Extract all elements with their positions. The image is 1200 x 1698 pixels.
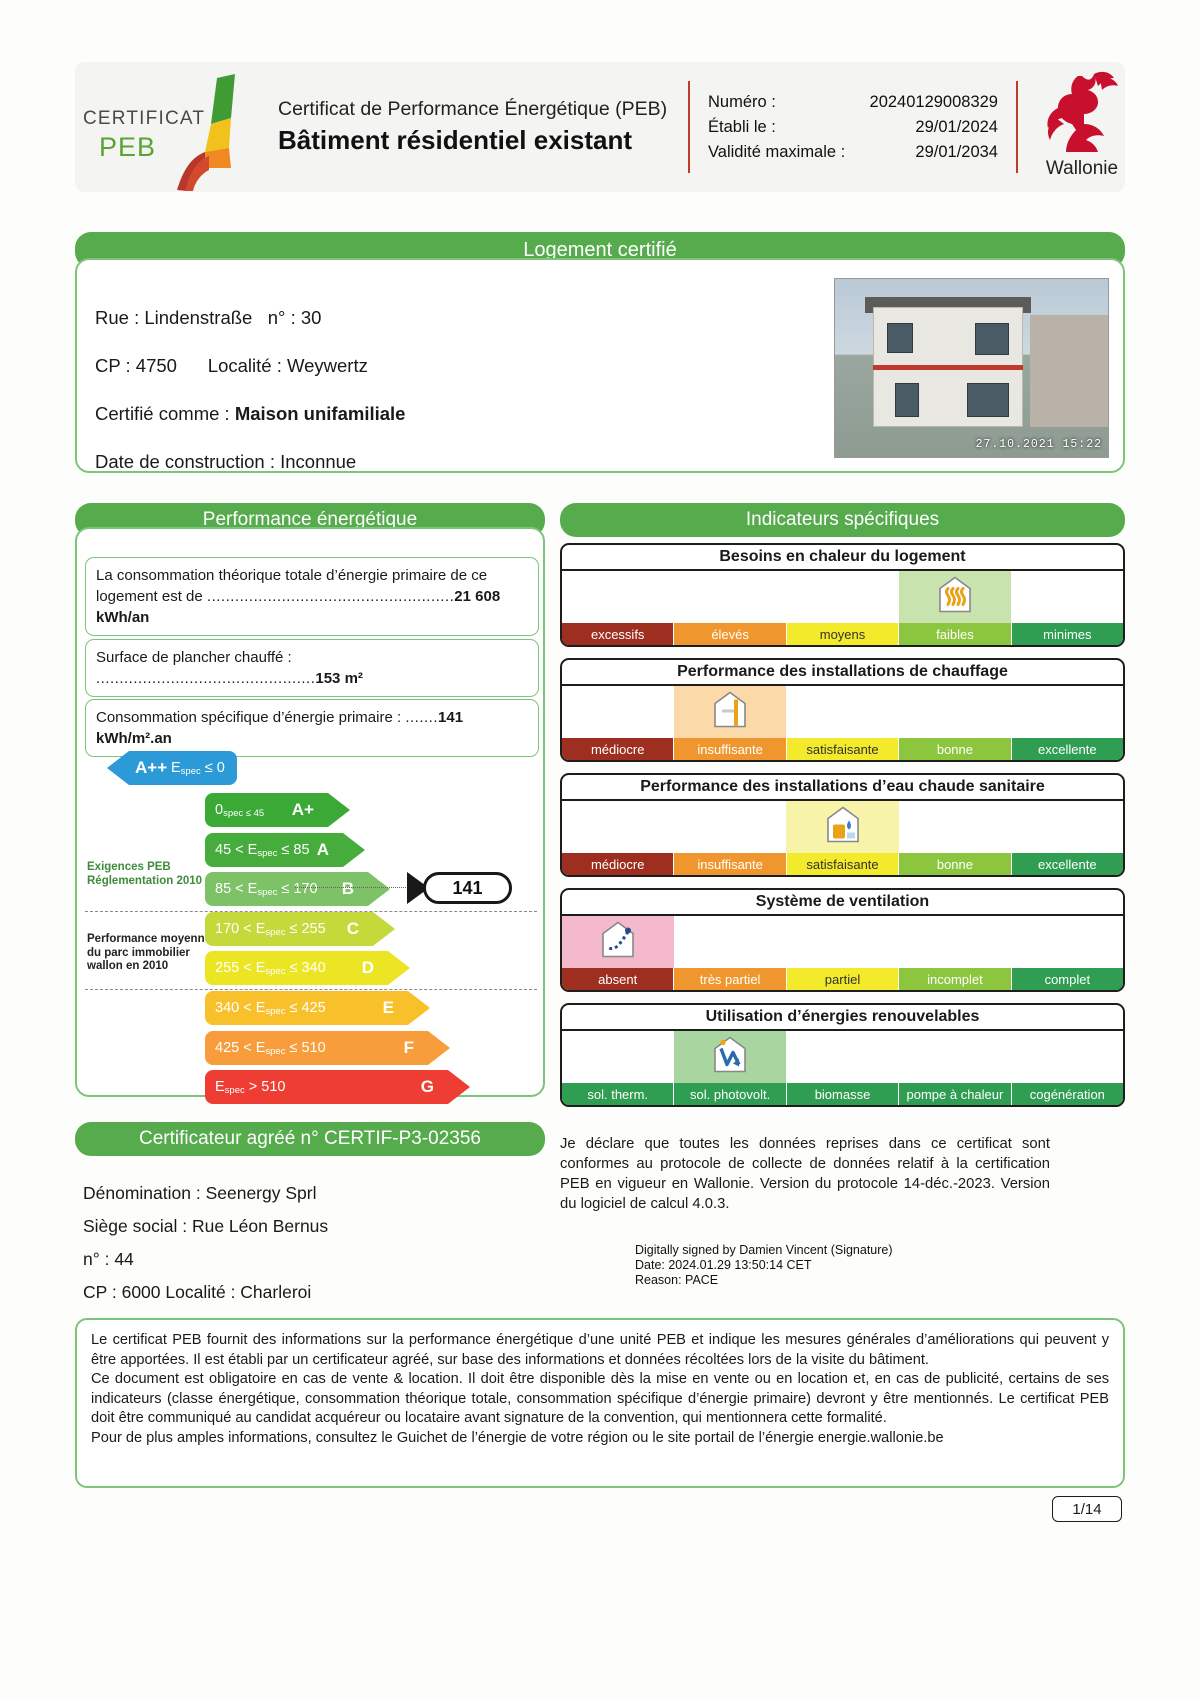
indicator-cell [674, 1031, 786, 1083]
swoosh-icon [175, 72, 270, 192]
indicator-scale-label: bonne [899, 853, 1011, 875]
indicator-title: Système de ventilation [562, 890, 1123, 916]
certifier-line-1: Dénomination : Seenergy Sprl [83, 1177, 328, 1210]
locality-label: Localité : Weywertz [208, 355, 368, 376]
indicator-scale-label: insuffisante [674, 853, 786, 875]
indicator-title: Utilisation d’énergies renouvelables [562, 1005, 1123, 1031]
indicator-block-2: Performance des installations de chauffa… [560, 658, 1125, 762]
class-letter: A+ [292, 800, 314, 820]
indicator-scale-label: bonne [899, 738, 1011, 760]
indicator-title: Performance des installations de chauffa… [562, 660, 1123, 686]
indicator-cell [1011, 686, 1123, 738]
photo-timestamp: 27.10.2021 15:22 [976, 438, 1102, 451]
indicator-scale-label: partiel [787, 968, 899, 990]
header-divider-1 [688, 81, 690, 173]
indicator-cell [786, 571, 898, 623]
indicator-body [562, 1031, 1123, 1083]
meta-label-validite: Validité maximale : [708, 140, 845, 165]
indicator-block-3: Performance des installations d’eau chau… [560, 773, 1125, 877]
floor-area-value: 153 m² [315, 670, 363, 687]
indicator-scale-label: moyens [787, 623, 899, 645]
indicator-scale-label: biomasse [787, 1083, 899, 1105]
certifier-line-2: Siège social : Rue Léon Bernus [83, 1210, 328, 1243]
indicator-cell [786, 916, 898, 968]
indicator-body [562, 916, 1123, 968]
indicator-title: Besoins en chaleur du logement [562, 545, 1123, 571]
indicator-scale-label: sol. therm. [562, 1083, 674, 1105]
parc-note-line3: wallon en 2010 [87, 960, 211, 974]
radiator-house-icon [710, 690, 750, 735]
peb-logo: CERTIFICAT PEB [75, 62, 270, 192]
signature-line-3: Reason: PACE [635, 1273, 1055, 1288]
indicator-cell [1011, 801, 1123, 853]
logo-text-peb: PEB [99, 132, 156, 163]
indicator-cell [899, 916, 1011, 968]
class-letter: D [362, 958, 374, 978]
indicator-scale-label: satisfaisante [787, 853, 899, 875]
address-line: Rue : Lindenstraße n° : 30 [95, 294, 405, 342]
meta-row-etabli: Établi le : 29/01/2024 [708, 115, 998, 140]
indicator-scale-label: absent [562, 968, 674, 990]
average-threshold-line [85, 989, 537, 990]
energy-class-B: 85 < Espec ≤ 170B [205, 872, 390, 906]
solar-house-icon [710, 1035, 750, 1080]
indicator-cell [1011, 571, 1123, 623]
indicator-cell [562, 1031, 674, 1083]
number-label: n° : 30 [268, 307, 322, 328]
fan-house-icon [598, 920, 638, 965]
indicator-scale-label: faibles [899, 623, 1011, 645]
energy-class-A: 45 < Espec ≤ 85A [205, 833, 365, 867]
indicator-scale-label: excessifs [562, 623, 674, 645]
total-consumption-line1: La consommation théorique totale d’énerg… [96, 567, 487, 584]
specific-consumption-box: Consommation spécifique d’énergie primai… [85, 699, 539, 757]
class-range-label: 425 < Espec ≤ 510 [205, 1040, 326, 1057]
indicator-cell [562, 686, 674, 738]
document-header: CERTIFICAT PEB Certificat de Performance… [75, 62, 1125, 192]
indicator-scale: médiocreinsuffisantesatisfaisantebonneex… [562, 853, 1123, 875]
meta-label-etabli: Établi le : [708, 115, 776, 140]
indicator-cell [786, 801, 898, 853]
indicator-scale-label: incomplet [899, 968, 1011, 990]
energy-class-C: 170 < Espec ≤ 255C [205, 912, 395, 946]
class-letter: E [383, 998, 394, 1018]
meta-value-validite: 29/01/2034 [915, 140, 998, 165]
class-range-label: 255 < Espec ≤ 340 [205, 960, 326, 977]
indicator-cell [1011, 1031, 1123, 1083]
indicator-cell [1011, 916, 1123, 968]
certified-as-value: Maison unifamiliale [235, 403, 406, 424]
indicator-cell [786, 686, 898, 738]
certified-as-label: Certifié comme : [95, 403, 230, 424]
locality-line: CP : 4750 Localité : Weywertz [95, 342, 405, 390]
indicator-scale: absenttrès partielpartielincompletcomple… [562, 968, 1123, 990]
indicator-scale-label: élevés [674, 623, 786, 645]
cp-label: CP : 4750 [95, 355, 177, 376]
floor-area-label: Surface de plancher chauffé : [96, 649, 292, 666]
logement-details: Rue : Lindenstraße n° : 30 CP : 4750 Loc… [95, 294, 405, 486]
header-title-line2: Bâtiment résidentiel existant [278, 125, 670, 156]
class-letter: G [421, 1077, 434, 1097]
indicator-cell [786, 1031, 898, 1083]
meta-value-etabli: 29/01/2024 [915, 115, 998, 140]
energy-class-F: 425 < Espec ≤ 510F [205, 1031, 450, 1065]
floor-area-dots: ........................................… [96, 670, 315, 687]
indicator-block-4: Système de ventilationabsenttrès partiel… [560, 888, 1125, 992]
indicator-cell [899, 1031, 1011, 1083]
street-label: Rue : Lindenstraße [95, 307, 252, 328]
meta-row-validite: Validité maximale : 29/01/2034 [708, 140, 998, 165]
class-range-label: Espec > 510 [205, 1079, 285, 1096]
header-divider-2 [1016, 81, 1018, 173]
total-consumption-line2: logement est de [96, 588, 207, 605]
certificate-page: CERTIFICAT PEB Certificat de Performance… [0, 0, 1200, 1698]
marker-value: 141 [423, 872, 512, 904]
notice-paragraph-2: Ce document est obligatoire en cas de ve… [91, 1370, 1109, 1429]
current-class-marker: 141 [407, 872, 512, 904]
wallonia-emblem: Wallonie [1036, 62, 1128, 192]
construction-date: Date de construction : Inconnue [95, 438, 405, 486]
indicator-scale-label: très partiel [674, 968, 786, 990]
indicator-cell [674, 916, 786, 968]
indicator-cell [674, 571, 786, 623]
energy-class-Aplusplus: Espec ≤ 0A++ [107, 751, 237, 785]
class-letter: B [342, 879, 354, 899]
indicator-scale-label: médiocre [562, 853, 674, 875]
class-range-label: 340 < Espec ≤ 425 [205, 1000, 326, 1017]
indicator-scale-label: satisfaisante [787, 738, 899, 760]
indicator-cell [899, 686, 1011, 738]
logement-card: Rue : Lindenstraße n° : 30 CP : 4750 Loc… [75, 258, 1125, 473]
indicator-cell [562, 916, 674, 968]
signature-line-1: Digitally signed by Damien Vincent (Sign… [635, 1243, 1055, 1258]
meta-row-numero: Numéro : 20240129008329 [708, 90, 998, 115]
indicator-cell [899, 801, 1011, 853]
indicator-cell [562, 801, 674, 853]
indicator-scale: médiocreinsuffisantesatisfaisantebonneex… [562, 738, 1123, 760]
digital-signature: Digitally signed by Damien Vincent (Sign… [635, 1243, 1055, 1288]
indicator-body [562, 571, 1123, 623]
energy-class-G: Espec > 510G [205, 1070, 470, 1104]
declaration-text: Je déclare que toutes les données repris… [560, 1134, 1050, 1214]
meta-label-numero: Numéro : [708, 90, 776, 115]
class-range-label: 45 < Espec ≤ 85 [205, 842, 310, 859]
parc-note-line1: Performance moyenne [87, 933, 211, 947]
indicator-body [562, 686, 1123, 738]
indicator-scale: excessifsélevésmoyensfaiblesminimes [562, 623, 1123, 645]
class-range-label: 0spec ≤ 45 [205, 802, 264, 819]
indicator-cell [899, 571, 1011, 623]
certifier-line-4: CP : 6000 Localité : Charleroi [83, 1276, 328, 1309]
energy-class-E: 340 < Espec ≤ 425E [205, 991, 430, 1025]
building-photo: 27.10.2021 15:22 [834, 278, 1109, 458]
specific-consumption-dots: ....... [405, 709, 438, 726]
parc-note-line2: du parc immobilier [87, 947, 211, 961]
indicator-scale-label: insuffisante [674, 738, 786, 760]
indicator-block-1: Besoins en chaleur du logementexcessifsé… [560, 543, 1125, 647]
indicator-cell [562, 571, 674, 623]
specific-consumption-label: Consommation spécifique d’énergie primai… [96, 709, 405, 726]
class-letter: A++ [135, 758, 167, 778]
indicators-section-title: Indicateurs spécifiques [560, 503, 1125, 537]
indicator-scale-label: complet [1012, 968, 1123, 990]
performance-card: La consommation théorique totale d’énerg… [75, 527, 545, 1097]
indicator-block-5: Utilisation d’énergies renouvelablessol.… [560, 1003, 1125, 1107]
class-letter: A [317, 840, 329, 860]
indicator-cell [674, 686, 786, 738]
notice-paragraph-3: Pour de plus amples informations, consul… [91, 1429, 1109, 1449]
heat-house-icon [935, 575, 975, 620]
class-letter: F [404, 1038, 414, 1058]
header-title-line1: Certificat de Performance Énergétique (P… [278, 98, 670, 121]
floor-area-box: Surface de plancher chauffé : ..........… [85, 639, 539, 697]
average-stock-note: Performance moyenne du parc immobilier w… [87, 933, 211, 974]
region-name: Wallonie [1036, 158, 1128, 180]
marker-leader-line [295, 887, 410, 888]
certifier-card: Dénomination : Seenergy SprlSiège social… [75, 1147, 545, 1297]
notice-paragraph-1: Le certificat PEB fournit des informatio… [91, 1331, 1109, 1370]
indicator-scale-label: sol. photovolt. [674, 1083, 786, 1105]
indicator-scale-label: pompe à chaleur [899, 1083, 1011, 1105]
page-number: 1/14 [1052, 1496, 1122, 1522]
certifier-line-3: n° : 44 [83, 1243, 328, 1276]
class-range-label: 170 < Espec ≤ 255 [205, 921, 326, 938]
water-house-icon [823, 805, 863, 850]
indicator-scale-label: médiocre [562, 738, 674, 760]
energy-class-Aplus: 0spec ≤ 45A+ [205, 793, 350, 827]
indicator-scale-label: minimes [1012, 623, 1123, 645]
certified-as-line: Certifié comme : Maison unifamiliale [95, 390, 405, 438]
rooster-icon [1036, 66, 1128, 158]
indicator-title: Performance des installations d’eau chau… [562, 775, 1123, 801]
indicator-cell [674, 801, 786, 853]
indicator-scale-label: excellente [1012, 738, 1123, 760]
peb-note-line2: Réglementation 2010 [87, 875, 202, 889]
meta-value-numero: 20240129008329 [870, 90, 998, 115]
indicator-scale-label: excellente [1012, 853, 1123, 875]
signature-line-2: Date: 2024.01.29 13:50:14 CET [635, 1258, 1055, 1273]
header-meta: Numéro : 20240129008329 Établi le : 29/0… [708, 90, 998, 165]
indicator-scale-label: cogénération [1012, 1083, 1123, 1105]
peb-note-line1: Exigences PEB [87, 861, 202, 875]
energy-class-scale: Exigences PEB Réglementation 2010 Perfor… [77, 751, 547, 1096]
indicator-body [562, 801, 1123, 853]
total-consumption-box: La consommation théorique totale d’énerg… [85, 557, 539, 636]
header-title: Certificat de Performance Énergétique (P… [270, 98, 670, 156]
indicator-scale: sol. therm.sol. photovolt.biomassepompe … [562, 1083, 1123, 1105]
class-range-label: 85 < Espec ≤ 170 [205, 881, 318, 898]
class-letter: C [347, 919, 359, 939]
peb-requirement-note: Exigences PEB Réglementation 2010 [87, 861, 202, 888]
total-consumption-dots: ........................................… [207, 588, 454, 605]
peb-threshold-line [85, 911, 537, 912]
energy-class-D: 255 < Espec ≤ 340D [205, 951, 410, 985]
legal-notice: Le certificat PEB fournit des informatio… [75, 1318, 1125, 1488]
